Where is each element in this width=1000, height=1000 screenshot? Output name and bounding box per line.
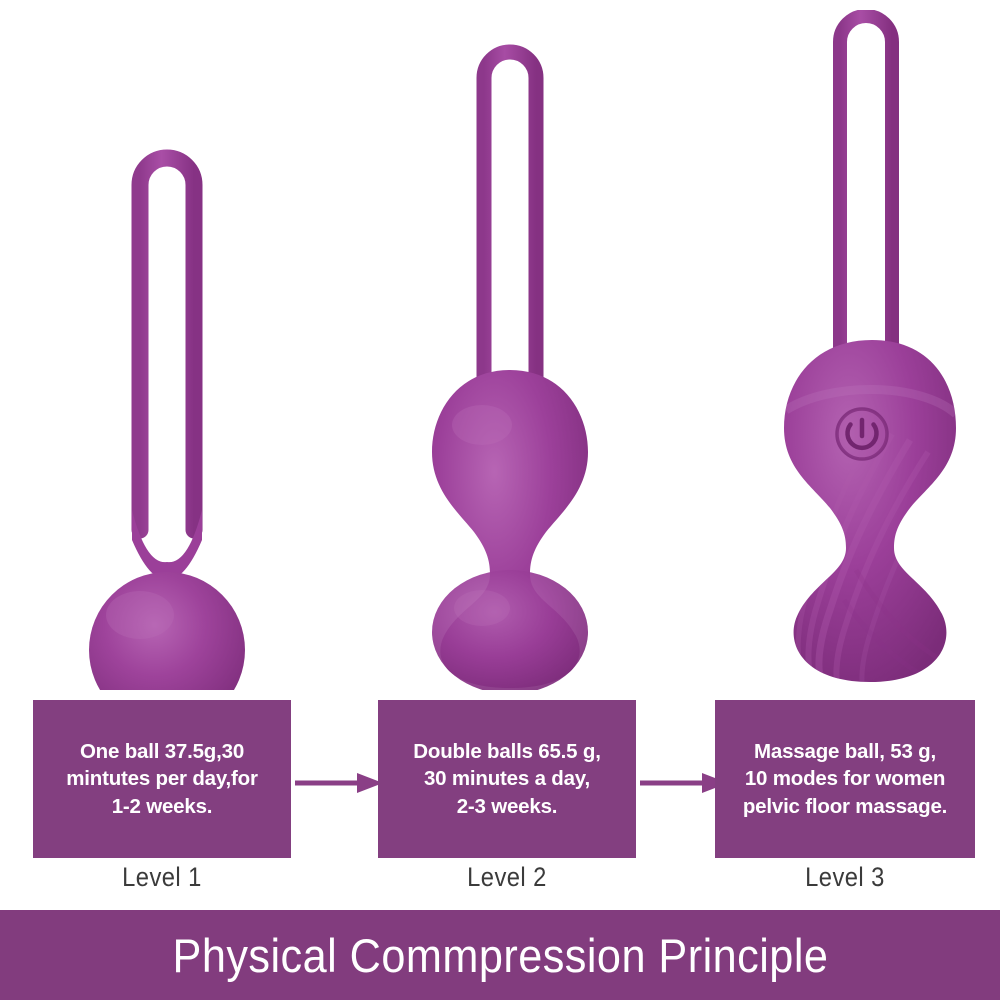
level-description-box-2: Double balls 65.5 g, 30 minutes a day, 2…: [378, 700, 636, 858]
banner-title: Physical Commpression Principle: [172, 928, 828, 983]
retrieval-cord: [140, 158, 194, 530]
level-caption-1: Level 1: [48, 862, 275, 893]
level-description-box-1: One ball 37.5g,30 mintutes per day,for 1…: [33, 700, 291, 858]
level-caption-2: Level 2: [393, 862, 620, 893]
level-description-text-3: Massage ball, 53 g, 10 modes for women p…: [743, 738, 947, 819]
level-description-text-1: One ball 37.5g,30 mintutes per day,for 1…: [66, 738, 258, 819]
ball-body: [89, 572, 245, 690]
bottom-banner: Physical Commpression Principle: [0, 910, 1000, 1000]
lower-ball-highlight: [454, 590, 510, 626]
product-image-massage-ball: [760, 10, 980, 695]
product-image-single-ball: [60, 110, 280, 690]
product-image-row: [0, 0, 1000, 690]
retrieval-cord: [484, 52, 536, 390]
power-button-icon[interactable]: [837, 409, 887, 459]
upper-ball-highlight: [452, 405, 512, 445]
level-description-text-2: Double balls 65.5 g, 30 minutes a day, 2…: [413, 738, 600, 819]
level-caption-3: Level 3: [731, 862, 960, 893]
level-description-box-3: Massage ball, 53 g, 10 modes for women p…: [715, 700, 975, 858]
product-infographic: One ball 37.5g,30 mintutes per day,for 1…: [0, 0, 1000, 1000]
right-arrow-icon-1: [295, 770, 383, 796]
ball-highlight: [106, 591, 174, 639]
product-image-double-ball: [410, 40, 620, 690]
lower-ball: [432, 570, 588, 690]
retrieval-cord: [840, 16, 892, 360]
